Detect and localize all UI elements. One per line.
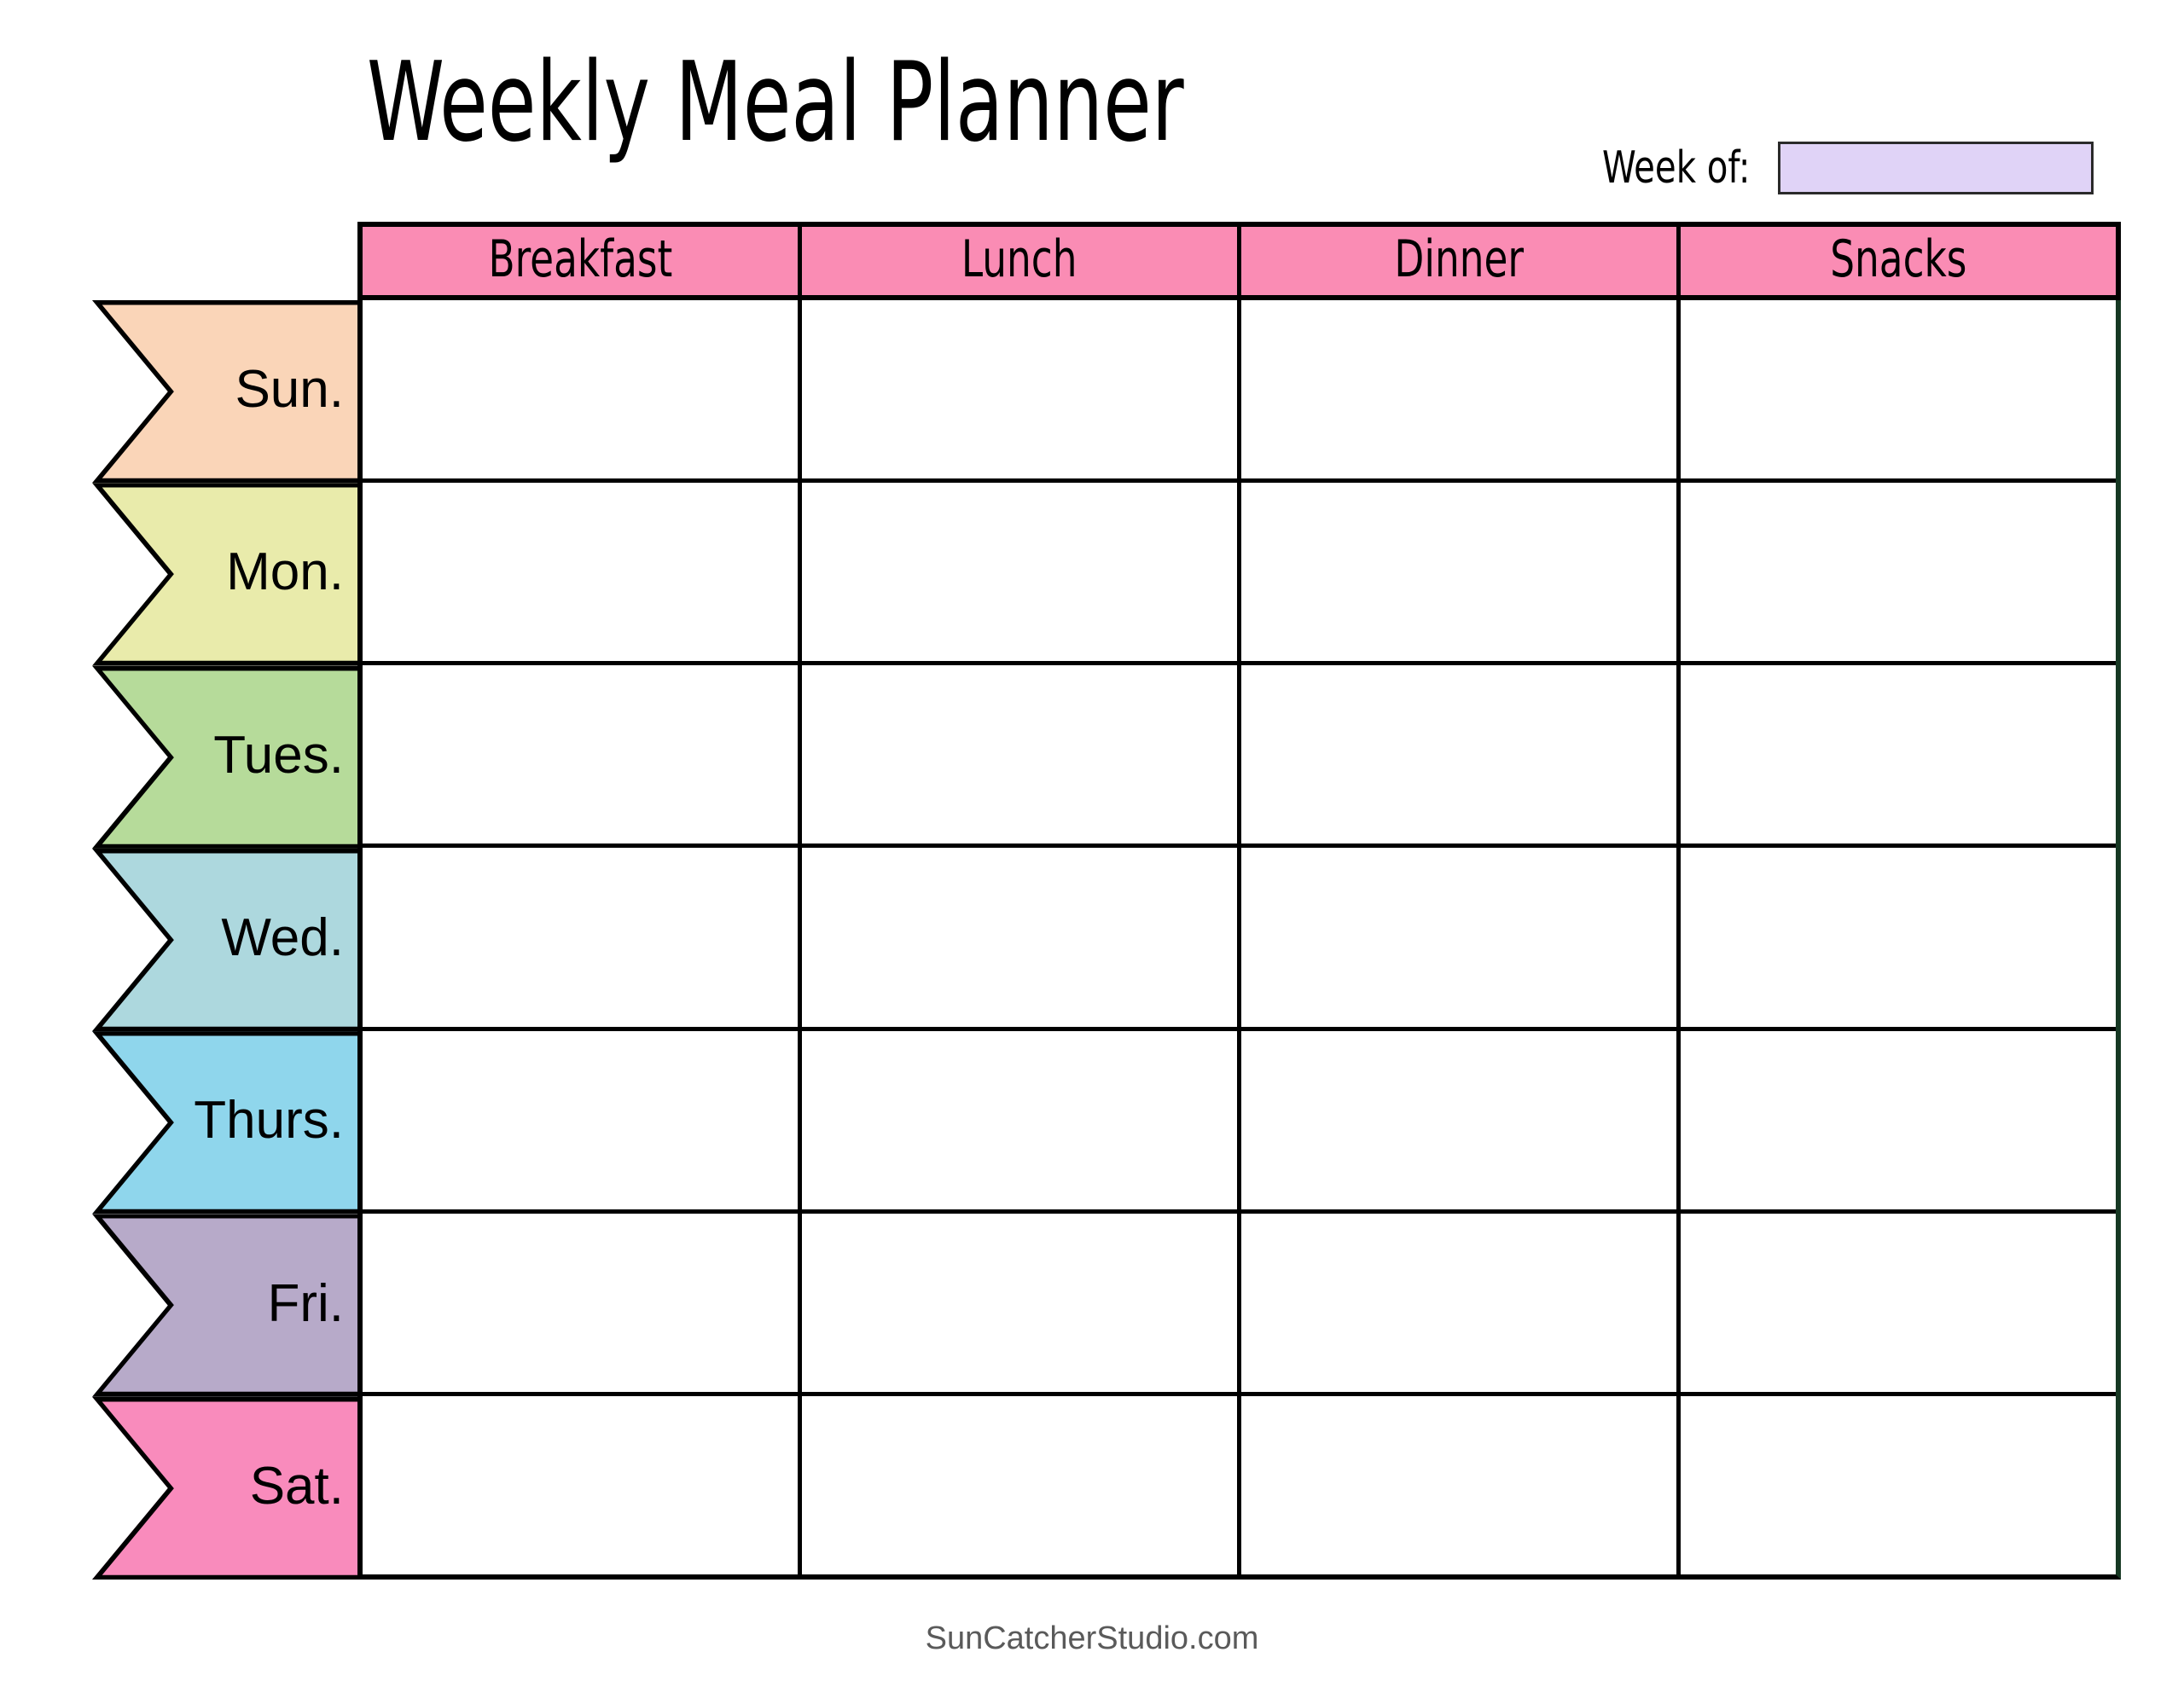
meal-cell-fri-dinner[interactable] — [1241, 1214, 1681, 1392]
table-row — [363, 1396, 2116, 1574]
day-tab-sat[interactable]: Sat. — [92, 1397, 363, 1580]
meal-cell-sat-breakfast[interactable] — [363, 1396, 802, 1574]
day-tab-sun[interactable]: Sun. — [92, 300, 363, 483]
day-tab-label: Tues. — [213, 729, 344, 782]
week-of-group: Week of: — [1602, 136, 2094, 200]
table-row — [363, 300, 2116, 483]
meal-cell-mon-snacks[interactable] — [1681, 483, 2116, 661]
meal-cell-wed-breakfast[interactable] — [363, 848, 802, 1026]
week-of-label: Week of: — [1602, 142, 1750, 194]
meal-grid — [357, 300, 2121, 1580]
week-of-input[interactable] — [1778, 142, 2094, 194]
day-tab-label: Wed. — [221, 912, 344, 965]
meal-cell-fri-lunch[interactable] — [802, 1214, 1241, 1392]
day-tab-mon[interactable]: Mon. — [92, 483, 363, 665]
column-header-snacks: Snacks — [1681, 227, 2116, 295]
meal-cell-thurs-dinner[interactable] — [1241, 1031, 1681, 1209]
day-tab-thurs[interactable]: Thurs. — [92, 1031, 363, 1214]
meal-cell-tues-dinner[interactable] — [1241, 665, 1681, 843]
column-header-dinner: Dinner — [1241, 227, 1681, 295]
meal-cell-wed-lunch[interactable] — [802, 848, 1241, 1026]
column-header-label: Snacks — [1830, 234, 1966, 285]
column-header-label: Lunch — [961, 234, 1077, 285]
footer-credit: SunCatcherStudio.com — [0, 1620, 2184, 1657]
day-tab-label: Thurs. — [194, 1094, 344, 1147]
meal-cell-tues-breakfast[interactable] — [363, 665, 802, 843]
meal-cell-tues-snacks[interactable] — [1681, 665, 2116, 843]
meal-cell-wed-snacks[interactable] — [1681, 848, 2116, 1026]
meal-cell-sat-snacks[interactable] — [1681, 1396, 2116, 1574]
meal-cell-fri-snacks[interactable] — [1681, 1214, 2116, 1392]
meal-cell-mon-lunch[interactable] — [802, 483, 1241, 661]
day-tab-tues[interactable]: Tues. — [92, 666, 363, 849]
day-tab-label: Sat. — [250, 1460, 344, 1513]
column-header-label: Breakfast — [488, 234, 672, 285]
meal-cell-mon-breakfast[interactable] — [363, 483, 802, 661]
meal-cell-fri-breakfast[interactable] — [363, 1214, 802, 1392]
meal-cell-sun-dinner[interactable] — [1241, 300, 1681, 478]
table-row — [363, 483, 2116, 665]
column-header-lunch: Lunch — [802, 227, 1241, 295]
day-tab-label: Mon. — [226, 546, 344, 599]
table-row — [363, 665, 2116, 848]
column-header-label: Dinner — [1394, 234, 1524, 285]
table-row — [363, 1031, 2116, 1214]
column-header-breakfast: Breakfast — [363, 227, 802, 295]
table-header-row: Breakfast Lunch Dinner Snacks — [357, 222, 2121, 300]
day-tab-column: Sun.Mon.Tues.Wed.Thurs.Fri.Sat. — [92, 300, 363, 1580]
day-tab-label: Fri. — [267, 1278, 344, 1330]
meal-cell-thurs-breakfast[interactable] — [363, 1031, 802, 1209]
day-tab-label: Sun. — [235, 363, 344, 416]
meal-cell-tues-lunch[interactable] — [802, 665, 1241, 843]
day-tab-wed[interactable]: Wed. — [92, 849, 363, 1031]
weekly-meal-planner: Weekly Meal Planner Week of: Breakfast L… — [0, 0, 2184, 1687]
meal-cell-sun-breakfast[interactable] — [363, 300, 802, 478]
meal-cell-sun-snacks[interactable] — [1681, 300, 2116, 478]
meal-cell-thurs-lunch[interactable] — [802, 1031, 1241, 1209]
meal-cell-wed-dinner[interactable] — [1241, 848, 1681, 1026]
meal-cell-thurs-snacks[interactable] — [1681, 1031, 2116, 1209]
table-row — [363, 1214, 2116, 1396]
meal-cell-sat-dinner[interactable] — [1241, 1396, 1681, 1574]
table-row — [363, 848, 2116, 1030]
meal-cell-sun-lunch[interactable] — [802, 300, 1241, 478]
page-title: Weekly Meal Planner — [367, 39, 1184, 167]
meal-cell-mon-dinner[interactable] — [1241, 483, 1681, 661]
meal-cell-sat-lunch[interactable] — [802, 1396, 1241, 1574]
day-tab-fri[interactable]: Fri. — [92, 1214, 363, 1396]
